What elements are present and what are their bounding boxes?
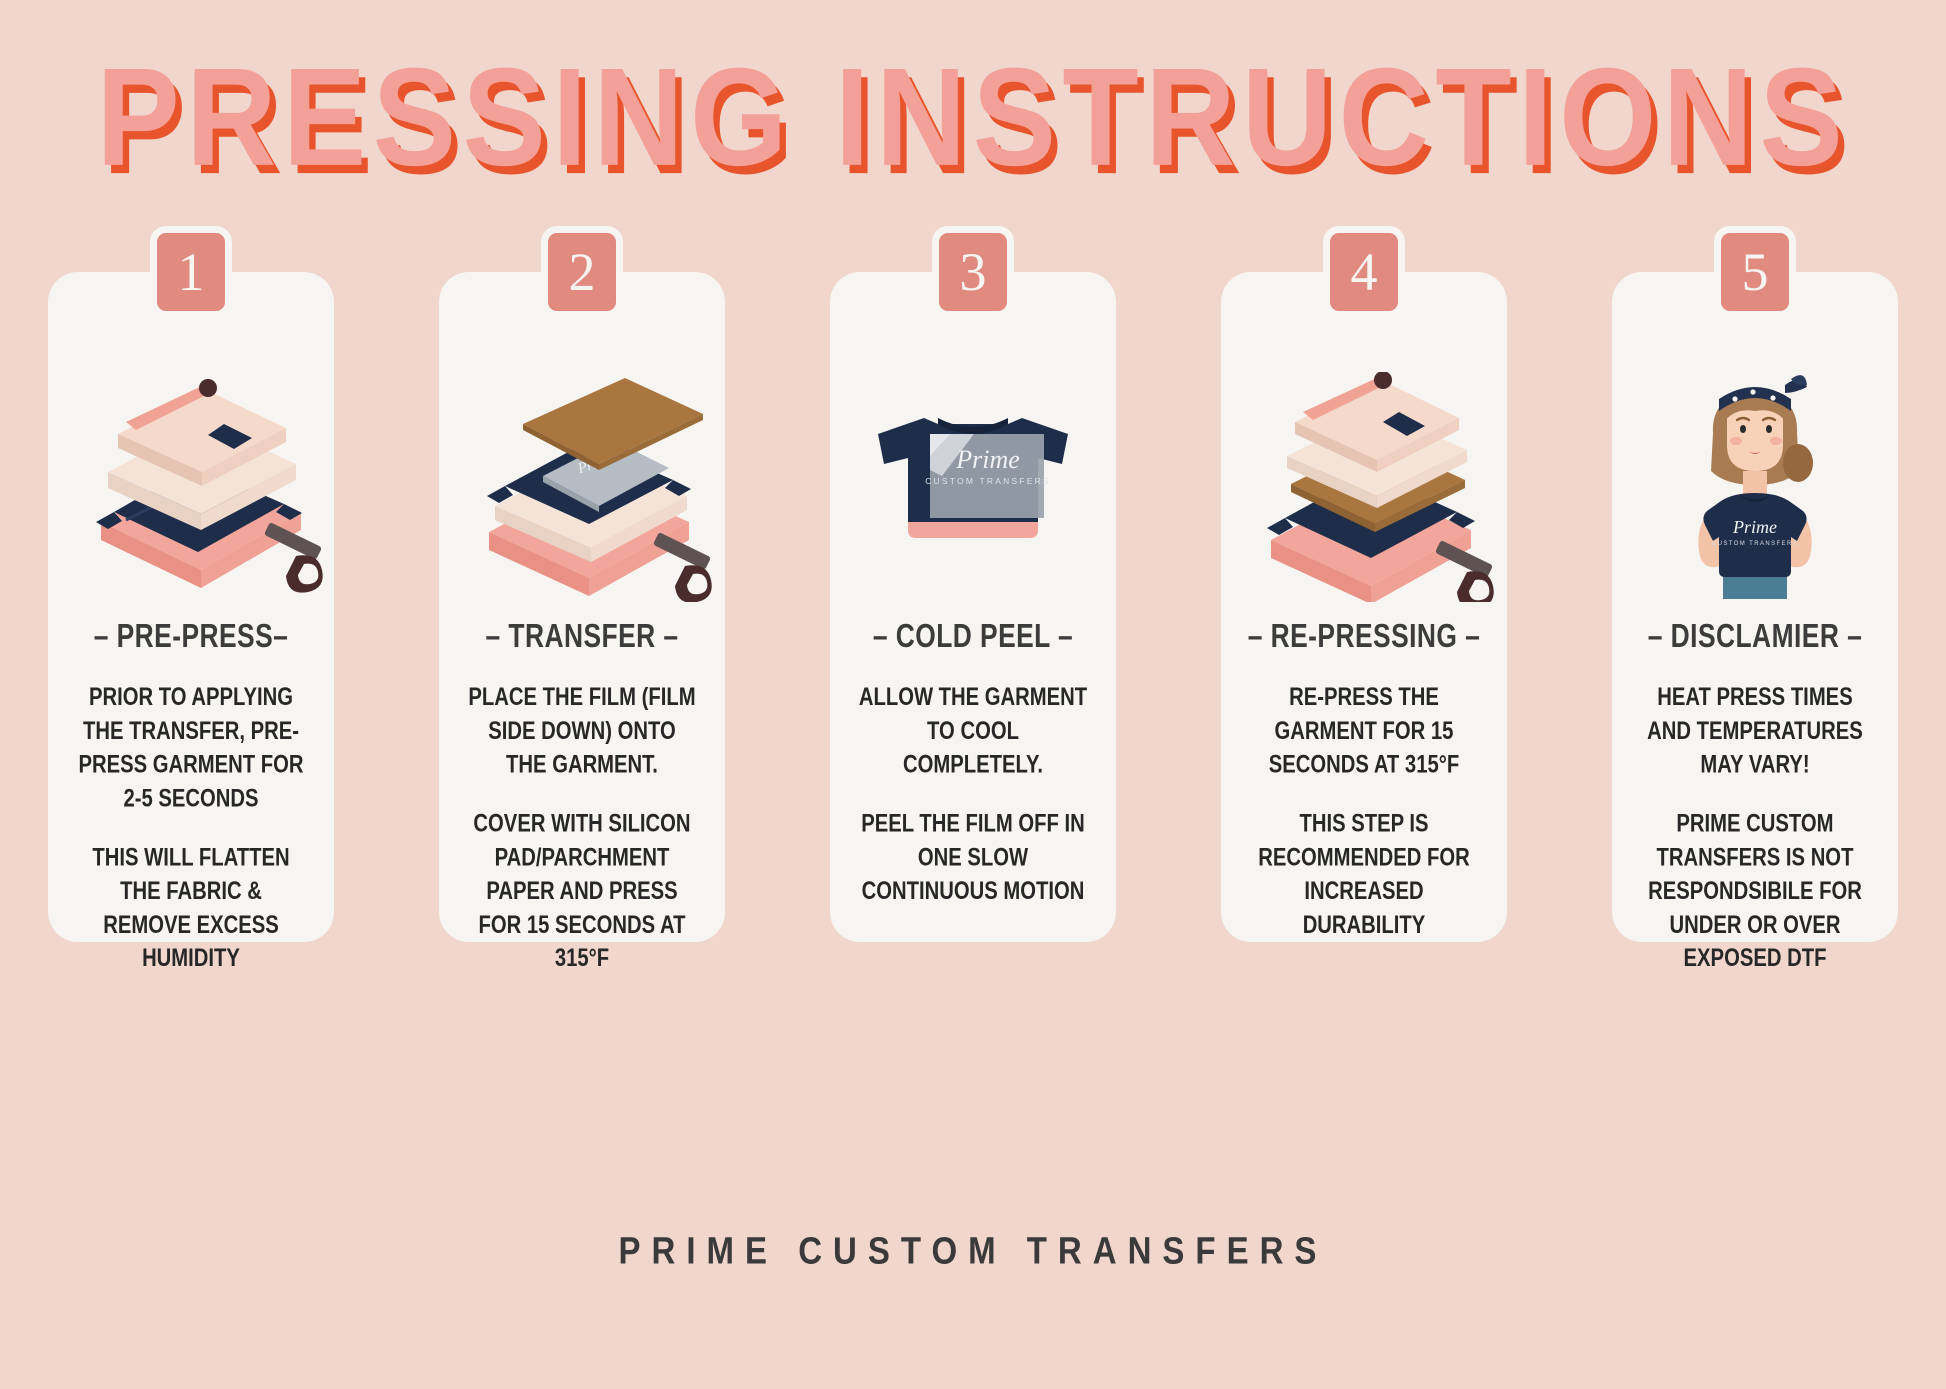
step-number-badge-1: 1 — [150, 226, 232, 318]
step-body-3: ALLOW THE GARMENT TO COOL COMPLETELY. PE… — [844, 680, 1101, 908]
step-card-4[interactable]: 4 Prime — [1221, 272, 1507, 942]
page-title: PRESSING INSTRUCTIONS PRESSING INSTRUCTI… — [97, 48, 1850, 187]
steps-row: 1 — [48, 272, 1898, 942]
heat-press-parchment-icon: Prime — [439, 362, 725, 612]
step-paragraph: PRIME CUSTOM TRANSFERS IS NOT RESPONDSIB… — [1641, 806, 1870, 975]
step-body-1: PRIOR TO APPLYING THE TRANSFER, PRE-PRES… — [62, 680, 319, 975]
step-title-1: – PRE-PRESS– — [65, 618, 317, 656]
step-paragraph: PLACE THE FILM (FILM SIDE DOWN) ONTO THE… — [468, 680, 697, 781]
step-paragraph: RE-PRESS THE GARMENT FOR 15 SECONDS AT 3… — [1250, 680, 1479, 781]
step-number-badge-5: 5 — [1714, 226, 1796, 318]
infographic-page: PRESSING INSTRUCTIONS PRESSING INSTRUCTI… — [0, 0, 1946, 1389]
heat-press-closed-icon — [48, 362, 334, 612]
step-body-2: PLACE THE FILM (FILM SIDE DOWN) ONTO THE… — [453, 680, 710, 975]
step-paragraph: PRIOR TO APPLYING THE TRANSFER, PRE-PRES… — [77, 680, 306, 815]
woman-wearing-tshirt-icon: Prime CUSTOM TRANSFERS — [1612, 362, 1898, 612]
step-paragraph: COVER WITH SILICON PAD/PARCHMENT PAPER A… — [468, 806, 697, 975]
footer-brand: PRIME CUSTOM TRANSFERS — [0, 1229, 1946, 1273]
step-number-badge-2: 2 — [541, 226, 623, 318]
step-title-5: – DISCLAMIER – — [1629, 618, 1881, 656]
garment-logo-script: Prime — [955, 445, 1020, 474]
step-card-5[interactable]: 5 — [1612, 272, 1898, 942]
garment-logo-subtext: CUSTOM TRANSFERS — [925, 476, 1051, 486]
step-card-1[interactable]: 1 — [48, 272, 334, 942]
step-number-badge-3: 3 — [932, 226, 1014, 318]
step-body-5: HEAT PRESS TIMES AND TEMPERATURES MAY VA… — [1626, 680, 1883, 975]
step-body-4: RE-PRESS THE GARMENT FOR 15 SECONDS AT 3… — [1235, 680, 1492, 942]
step-paragraph: THIS WILL FLATTEN THE FABRIC & REMOVE EX… — [77, 840, 306, 975]
step-number-badge-4: 4 — [1323, 226, 1405, 318]
step-title-3: – COLD PEEL – — [847, 618, 1099, 656]
garment-logo-script: Prime — [1732, 517, 1777, 537]
step-card-2[interactable]: 2 Prime — [439, 272, 725, 942]
heat-press-repress-icon: Prime — [1221, 362, 1507, 612]
step-card-3[interactable]: 3 Prime CUSTOM TRANSFERS — [830, 272, 1116, 942]
step-paragraph: HEAT PRESS TIMES AND TEMPERATURES MAY VA… — [1641, 680, 1870, 781]
page-title-fill: PRESSING INSTRUCTIONS — [97, 40, 1850, 196]
garment-logo-subtext: CUSTOM TRANSFERS — [1712, 541, 1798, 547]
step-paragraph: THIS STEP IS RECOMMENDED FOR INCREASED D… — [1250, 806, 1479, 941]
step-title-4: – RE-PRESSING – — [1238, 618, 1490, 656]
tshirt-peel-film-icon: Prime CUSTOM TRANSFERS — [830, 362, 1116, 612]
step-paragraph: ALLOW THE GARMENT TO COOL COMPLETELY. — [859, 680, 1088, 781]
page-title-wrapper: PRESSING INSTRUCTIONS PRESSING INSTRUCTI… — [0, 48, 1946, 188]
step-title-2: – TRANSFER – — [456, 618, 708, 656]
step-paragraph: PEEL THE FILM OFF IN ONE SLOW CONTINUOUS… — [859, 806, 1088, 907]
